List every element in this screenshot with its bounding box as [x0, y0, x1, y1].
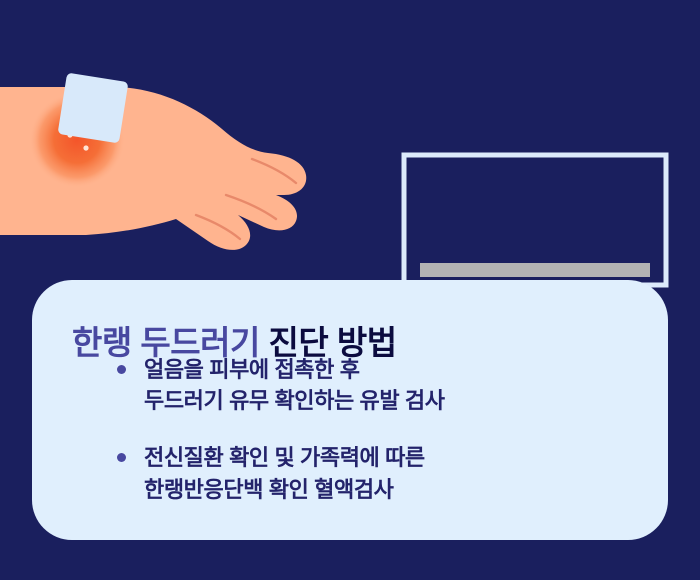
infographic-canvas: 한랭 두드러기 진단 방법 얼음을 피부에 접촉한 후 두드러기 유무 확인하는… — [0, 0, 700, 580]
screen-base-bar — [420, 263, 650, 277]
forearm-with-ice-cube-illustration — [0, 55, 340, 285]
diagnosis-bullet-list: 얼음을 피부에 접촉한 후 두드러기 유무 확인하는 유발 검사 전신질환 확인… — [114, 354, 634, 505]
list-item: 얼음을 피부에 접촉한 후 두드러기 유무 확인하는 유발 검사 — [114, 354, 634, 416]
bullet-line-2: 두드러기 유무 확인하는 유발 검사 — [144, 385, 634, 416]
hive-dot — [83, 145, 88, 150]
bullet-dot-icon — [117, 365, 126, 374]
monitor-frame-illustration — [398, 148, 670, 288]
ice-cube — [58, 73, 129, 144]
bullet-dot-icon — [117, 453, 126, 462]
bullet-line-1: 전신질환 확인 및 가족력에 따른 — [144, 442, 634, 473]
bullet-line-2: 한랭반응단백 확인 혈액검사 — [144, 474, 634, 505]
list-item: 전신질환 확인 및 가족력에 따른 한랭반응단백 확인 혈액검사 — [114, 442, 634, 504]
diagnosis-info-card: 한랭 두드러기 진단 방법 얼음을 피부에 접촉한 후 두드러기 유무 확인하는… — [32, 280, 668, 540]
bullet-line-1: 얼음을 피부에 접촉한 후 — [144, 354, 634, 385]
